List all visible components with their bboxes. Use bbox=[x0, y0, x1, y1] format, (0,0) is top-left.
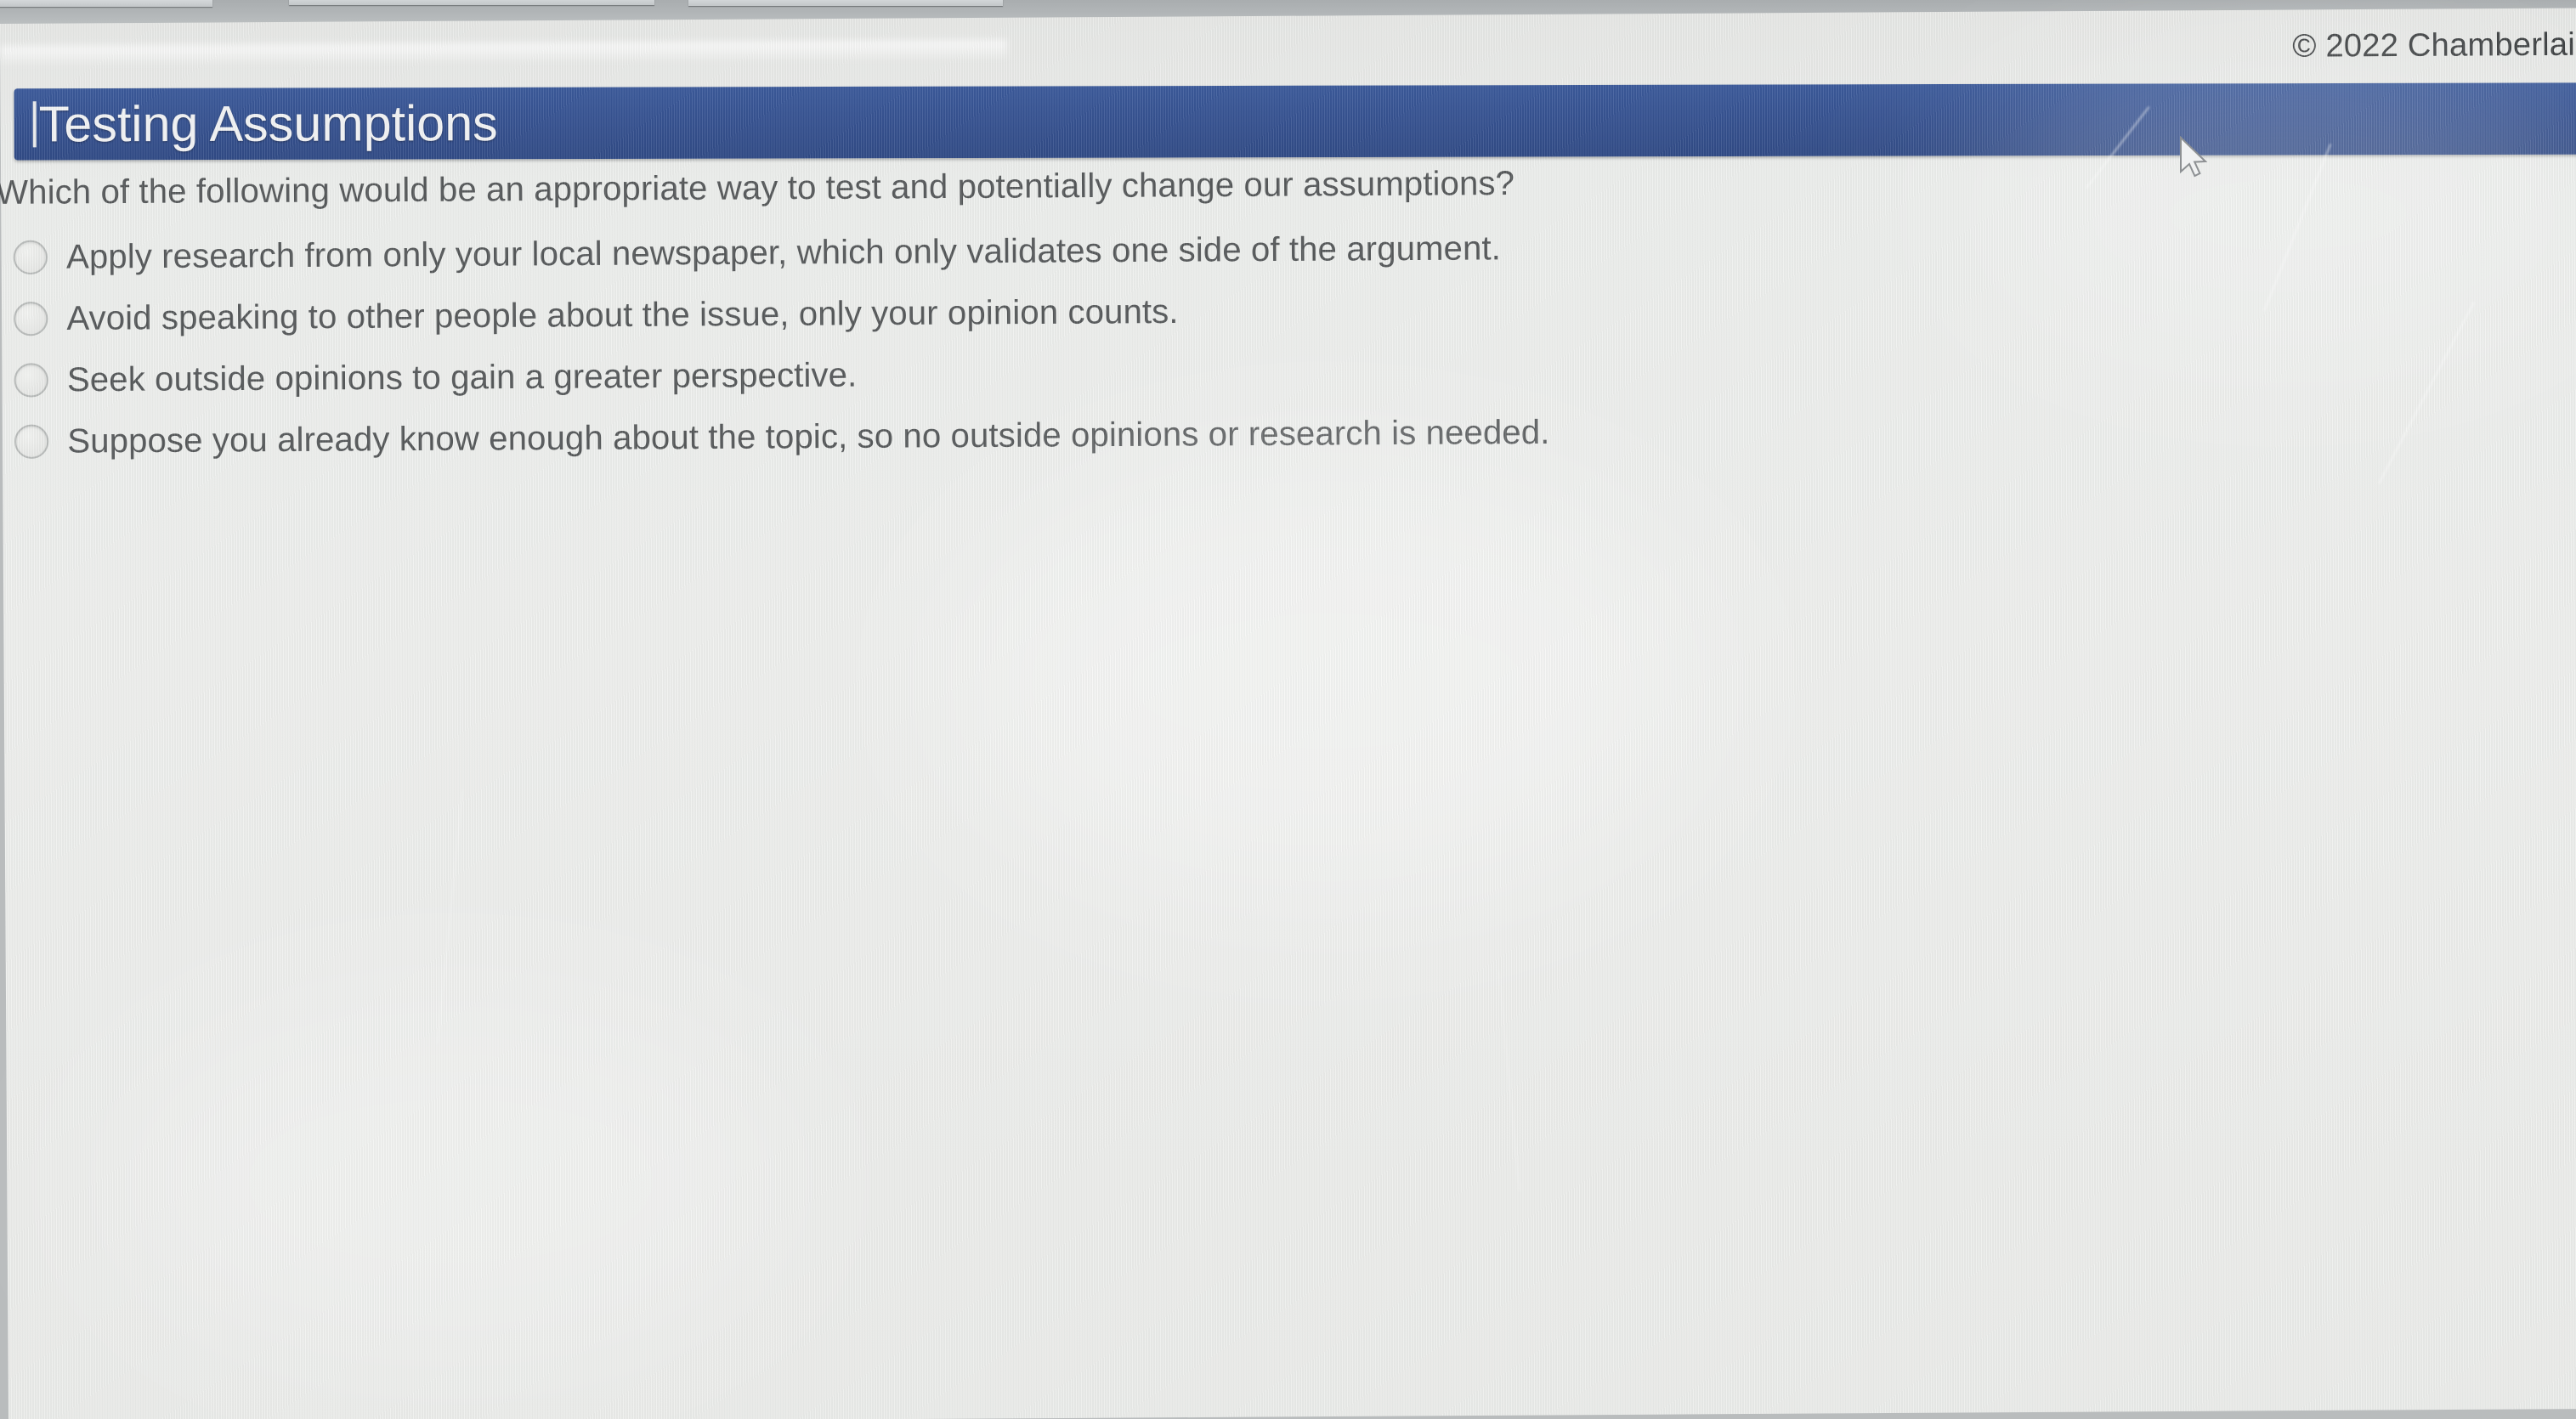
answer-option-label-4: Suppose you already know enough about th… bbox=[67, 413, 1549, 461]
answer-option-label-1: Apply research from only your local news… bbox=[66, 229, 1501, 276]
question-stem: Which of the following would be an appro… bbox=[0, 165, 1514, 212]
answer-option-4[interactable]: Suppose you already know enough about th… bbox=[3, 398, 2222, 472]
radio-button-icon-3[interactable] bbox=[14, 363, 48, 397]
screen-glare-1 bbox=[942, 457, 1713, 906]
radio-button-icon-1[interactable] bbox=[14, 240, 48, 274]
browser-tab-stub-1[interactable] bbox=[0, 0, 212, 7]
screen-scratch-5 bbox=[1498, 970, 1520, 1191]
screen-scratch-4 bbox=[437, 789, 464, 1044]
lesson-page: © 2022 Chamberlain Testing Assumptions W… bbox=[0, 8, 2576, 1419]
copyright-text: © 2022 Chamberlain bbox=[2292, 26, 2576, 65]
radio-button-icon-2[interactable] bbox=[14, 302, 48, 336]
answer-options-list: Apply research from only your local news… bbox=[1, 213, 2221, 472]
page-title: Testing Assumptions bbox=[39, 98, 498, 149]
browser-tab-stub-2[interactable] bbox=[289, 0, 654, 5]
screen-scratch-1 bbox=[2263, 144, 2331, 311]
page-title-banner: Testing Assumptions bbox=[14, 82, 2576, 160]
radio-button-icon-4[interactable] bbox=[14, 425, 48, 459]
monitor-photo-surface: © 2022 Chamberlain Testing Assumptions W… bbox=[0, 0, 2576, 1419]
screen-scratch-2 bbox=[2378, 302, 2475, 483]
screen-glare-2 bbox=[109, 1000, 794, 1363]
browser-tab-stub-3[interactable] bbox=[688, 0, 1003, 6]
screen-glare-band bbox=[0, 40, 1007, 65]
text-caret bbox=[33, 101, 37, 147]
answer-option-label-3: Seek outside opinions to gain a greater … bbox=[67, 356, 858, 399]
answer-option-label-2: Avoid speaking to other people about the… bbox=[66, 292, 1178, 337]
